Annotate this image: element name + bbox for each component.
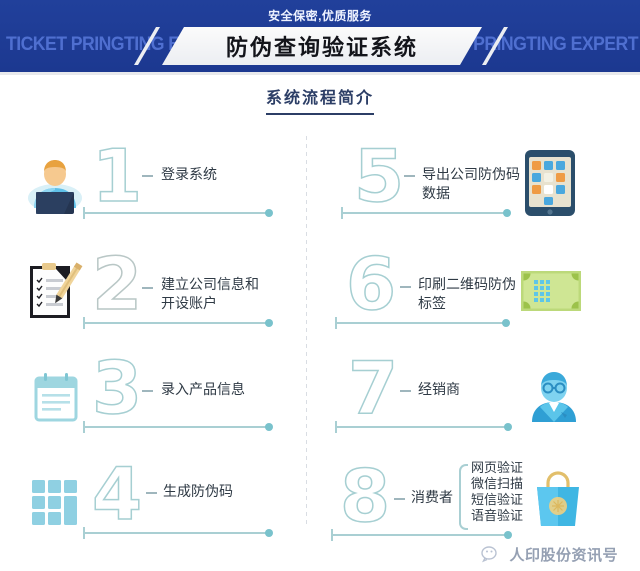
step-label-3: 录入产品信息 xyxy=(161,381,245,400)
flow-diagram: 1 登录系统 xyxy=(0,128,640,548)
step-rule-7 xyxy=(336,426,508,428)
page-title: 防伪查询验证系统 xyxy=(162,27,482,65)
wechat-logo-icon xyxy=(481,545,501,565)
qrcode-grid-icon xyxy=(30,478,80,528)
sub-item-voice[interactable]: 语音验证 xyxy=(471,508,523,524)
flow-step-7[interactable]: 7 经销商 xyxy=(322,352,628,452)
flow-step-3[interactable]: 3 录入产品信息 xyxy=(6,352,312,452)
step-rule-4 xyxy=(84,532,269,534)
flow-step-2[interactable]: 2 建立公司信息和 开设账户 xyxy=(6,246,312,346)
step-number-2: 2 xyxy=(92,248,142,320)
step-rule-6 xyxy=(336,322,506,324)
step-rule-8 xyxy=(332,534,508,536)
flow-step-6[interactable]: 6 印刷二维码防伪 标签 xyxy=(322,246,628,346)
clipboard-pen-icon xyxy=(26,260,84,322)
poster-root: 安全保密,优质服务 TICKET PRINGTING EXPERT TICKET… xyxy=(0,0,640,571)
flow-step-4[interactable]: 4 生成防伪码 xyxy=(6,454,312,554)
step-rule-2 xyxy=(84,322,269,324)
sub-item-sms[interactable]: 短信验证 xyxy=(471,492,523,508)
flow-column-left: 1 登录系统 xyxy=(6,128,312,548)
step-label-8: 消费者 xyxy=(411,489,453,508)
form-document-icon xyxy=(30,372,82,424)
step-label-6: 印刷二维码防伪 标签 xyxy=(418,276,516,314)
flow-step-8[interactable]: 8 消费者 网页验证 微信扫描 短信验证 语音验证 xyxy=(322,454,628,554)
step-number-3: 3 xyxy=(92,352,142,424)
shopping-bag-icon xyxy=(531,470,585,528)
step-number-8: 8 xyxy=(340,460,390,532)
step-number-5: 5 xyxy=(354,140,404,212)
footer-account-name: 人印股份资讯号 xyxy=(509,544,618,565)
person-laptop-icon xyxy=(24,152,86,214)
step-label-7: 经销商 xyxy=(418,381,460,400)
step-dash-3 xyxy=(142,390,153,392)
subtitle-wrap: 系统流程简介 xyxy=(0,84,640,115)
step-number-6: 6 xyxy=(346,248,396,320)
step-number-1: 1 xyxy=(92,140,142,212)
flow-column-right: 5 导出公司防伪码 数据 xyxy=(322,128,628,548)
page-header: 安全保密,优质服务 TICKET PRINGTING EXPERT TICKET… xyxy=(0,0,640,72)
step-dash-8 xyxy=(394,498,405,500)
step-number-7: 7 xyxy=(348,352,398,424)
step-rule-1 xyxy=(84,212,269,214)
step-dash-6 xyxy=(400,286,411,288)
sub-item-wechat[interactable]: 微信扫描 xyxy=(471,476,523,492)
footer-account[interactable]: 人印股份资讯号 xyxy=(0,544,640,565)
step-dash-7 xyxy=(400,390,411,392)
step-8-sub-items: 网页验证 微信扫描 短信验证 语音验证 xyxy=(471,460,523,524)
step-dash-4 xyxy=(146,492,157,494)
green-label-icon xyxy=(520,270,582,312)
step-rule-5 xyxy=(342,212,507,214)
tablet-icon xyxy=(523,148,577,218)
flow-step-5[interactable]: 5 导出公司防伪码 数据 xyxy=(322,134,628,234)
sub-item-web[interactable]: 网页验证 xyxy=(471,460,523,476)
header-underline xyxy=(0,72,640,75)
section-subtitle: 系统流程简介 xyxy=(266,84,374,115)
step-dash-1 xyxy=(142,175,153,177)
step-dash-2 xyxy=(142,287,153,289)
businessman-icon xyxy=(527,370,581,424)
header-tagline: 安全保密,优质服务 xyxy=(0,7,640,24)
step-rule-3 xyxy=(84,426,269,428)
step-label-5: 导出公司防伪码 数据 xyxy=(422,166,520,204)
flow-step-1[interactable]: 1 登录系统 xyxy=(6,134,312,234)
step-label-2: 建立公司信息和 开设账户 xyxy=(161,276,259,314)
step-dash-5 xyxy=(404,175,415,177)
step-label-1: 登录系统 xyxy=(161,166,217,185)
sub-items-brace xyxy=(459,464,468,530)
step-label-4: 生成防伪码 xyxy=(163,483,233,502)
step-number-4: 4 xyxy=(92,458,142,530)
